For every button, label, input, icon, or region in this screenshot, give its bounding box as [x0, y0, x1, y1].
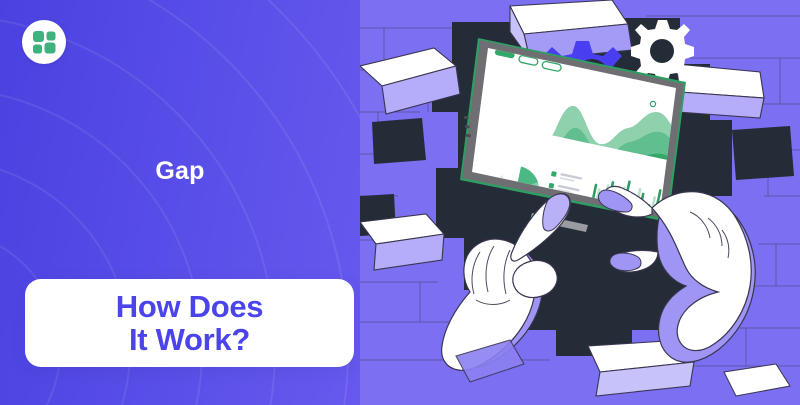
wall-hole-fragment [372, 118, 426, 164]
kicker-text: Gap [0, 157, 360, 186]
four-squares-grid-logo-icon [22, 20, 66, 64]
page-title: How Does It Work? [116, 290, 263, 357]
brand-logo-badge[interactable] [22, 20, 66, 64]
illustration-hands-tablet-broken-wall [360, 0, 800, 405]
title-card: How Does It Work? [25, 279, 354, 367]
wall-hole-fragment [732, 126, 794, 180]
title-line-2: It Work? [129, 322, 250, 357]
banner-root: Gap How Does It Work? [0, 0, 800, 405]
title-line-1: How Does [116, 289, 263, 324]
